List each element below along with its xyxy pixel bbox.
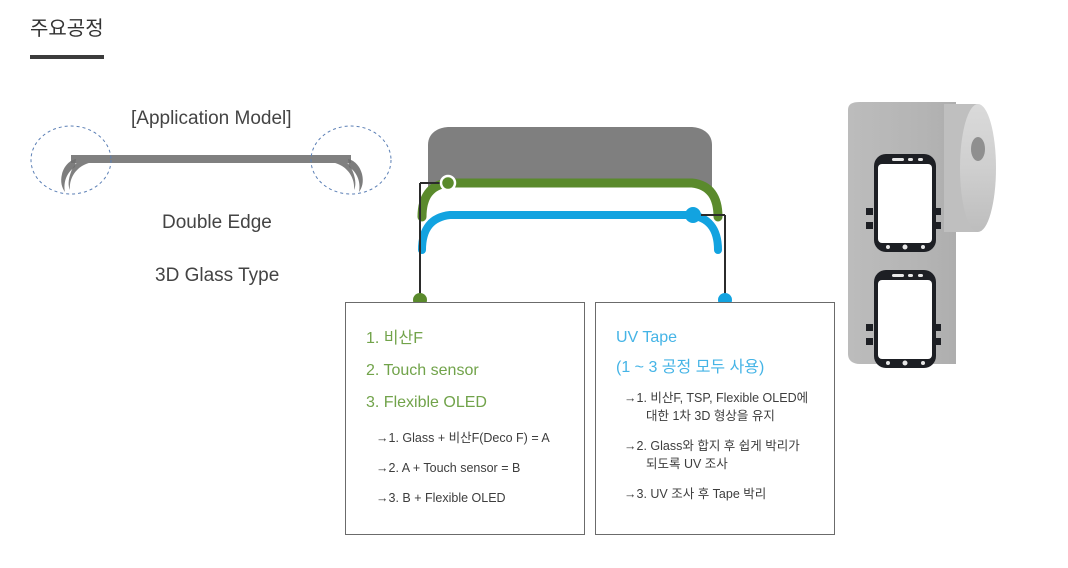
title-underline — [30, 55, 104, 59]
uvtape-sub-item-1-line2: 대한 1차 3D 형상을 유지 — [624, 407, 820, 425]
page-title: 주요공정 — [30, 16, 104, 42]
process-sub-item-2-line1: →2. A + Touch sensor = B — [376, 461, 520, 475]
green-dot-top-icon — [441, 176, 455, 190]
process-info-box: 1. 비산F 2. Touch sensor 3. Flexible OLED … — [345, 302, 585, 535]
roll-face-icon — [960, 104, 996, 232]
process-sub-item-1: →1. Glass + 비산F(Deco F) = A — [376, 429, 570, 447]
layer-stack-illustration — [400, 125, 760, 315]
glass-bar-icon — [71, 155, 351, 163]
edge-cross-section-illustration — [24, 110, 404, 200]
process-sub-item-2: →2. A + Touch sensor = B — [376, 459, 570, 477]
uvtape-sub-item-3-line1: →3. UV 조사 후 Tape 박리 — [624, 487, 766, 501]
process-sub-item-3: →3. B + Flexible OLED — [376, 489, 570, 507]
uvtape-heading-line1: UV Tape — [616, 323, 820, 353]
uvtape-sub-item-3: →3. UV 조사 후 Tape 박리 — [624, 485, 820, 503]
process-sub-item-3-line1: →3. B + Flexible OLED — [376, 491, 506, 505]
uvtape-heading-line2: (1 ~ 3 공정 모두 사용) — [616, 353, 820, 383]
process-item-1: 1. 비산F — [366, 323, 570, 355]
uvtape-sub-item-1-line1: →1. 비산F, TSP, Flexible OLED에 — [624, 391, 808, 405]
glass-type-label: 3D Glass Type — [155, 265, 279, 287]
film-roll-illustration — [836, 92, 1026, 372]
right-edge-curve-icon — [326, 159, 363, 192]
roll-core-icon — [971, 137, 985, 161]
uvtape-sub-item-2-line1: →2. Glass와 합지 후 쉽게 박리가 — [624, 439, 800, 453]
phone-panel-1 — [874, 154, 936, 252]
blue-dot-top-icon — [685, 207, 701, 223]
uvtape-info-box: UV Tape (1 ~ 3 공정 모두 사용) →1. 비산F, TSP, F… — [595, 302, 835, 535]
uvtape-sub-item-2-line2: 되도록 UV 조사 — [624, 455, 820, 473]
process-item-2: 2. Touch sensor — [366, 355, 570, 387]
process-sub-list: →1. Glass + 비산F(Deco F) = A →2. A + Touc… — [366, 429, 570, 507]
process-sub-item-1-line1: →1. Glass + 비산F(Deco F) = A — [376, 431, 550, 445]
double-edge-label: Double Edge — [162, 212, 272, 234]
uvtape-sub-list: →1. 비산F, TSP, Flexible OLED에 대한 1차 3D 형상… — [616, 389, 820, 503]
uvtape-sub-item-2: →2. Glass와 합지 후 쉽게 박리가 되도록 UV 조사 — [624, 437, 820, 473]
glass-body-shape — [428, 127, 712, 187]
phone-panel-2 — [874, 270, 936, 368]
blue-layer-curve — [422, 215, 718, 250]
left-edge-curve-icon — [61, 159, 98, 192]
process-item-3: 3. Flexible OLED — [366, 387, 570, 419]
uvtape-sub-item-1: →1. 비산F, TSP, Flexible OLED에 대한 1차 3D 형상… — [624, 389, 820, 425]
